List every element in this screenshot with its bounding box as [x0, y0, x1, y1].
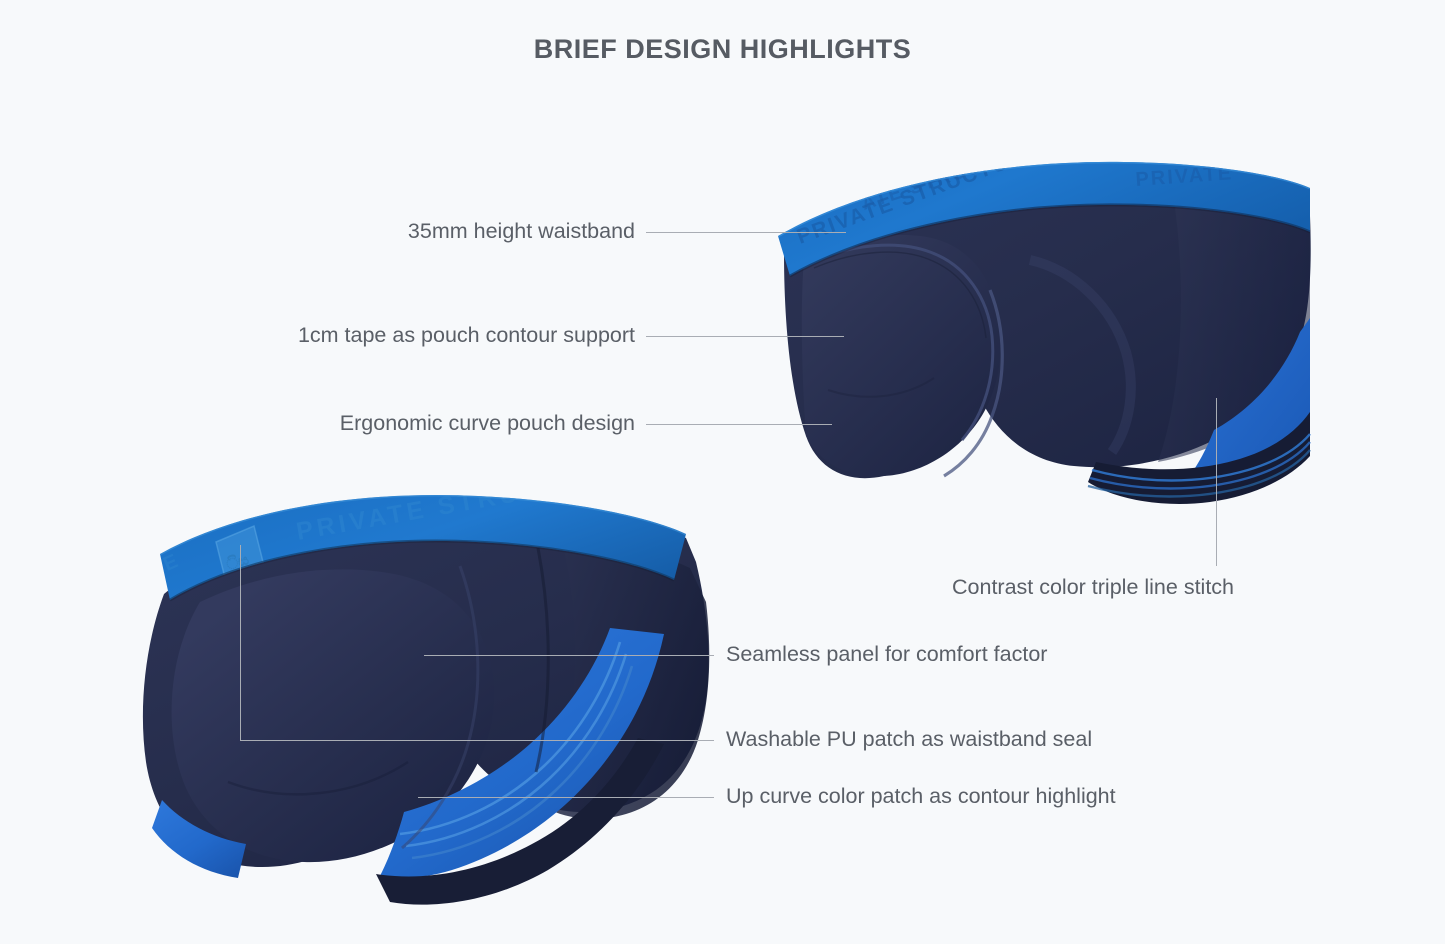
callout-label-triple-stitch: Contrast color triple line stitch	[952, 577, 1234, 599]
callout-label-seamless-panel: Seamless panel for comfort factor	[726, 644, 1047, 666]
front-view-illustration: PRIVATE STRUCTURE ATE STRUCTURE PRIVATE	[744, 140, 1324, 520]
callout-label-pouch-tape: 1cm tape as pouch contour support	[298, 325, 635, 347]
page-title: BRIEF DESIGN HIGHLIGHTS	[0, 34, 1445, 65]
leader-line-pu-patch-horizontal	[240, 740, 714, 741]
callout-label-pu-patch: Washable PU patch as waistband seal	[726, 729, 1092, 751]
leader-line-up-curve-patch	[418, 797, 714, 798]
leader-line-waistband-height	[646, 232, 846, 233]
back-view-illustration: PRIVATE STRUCTURE RE ිස	[108, 482, 728, 882]
leader-line-pouch-tape	[646, 336, 844, 337]
leader-line-pu-patch-vertical	[240, 545, 241, 741]
leader-line-ergonomic-pouch	[646, 424, 832, 425]
callout-label-ergonomic-pouch: Ergonomic curve pouch design	[340, 413, 635, 435]
callout-label-waistband-height: 35mm height waistband	[408, 221, 635, 243]
infographic-canvas: BRIEF DESIGN HIGHLIGHTS	[0, 0, 1445, 944]
callout-label-up-curve-patch: Up curve color patch as contour highligh…	[726, 786, 1116, 808]
leader-line-triple-stitch-vertical	[1216, 398, 1217, 566]
leader-line-seamless-panel	[424, 655, 714, 656]
